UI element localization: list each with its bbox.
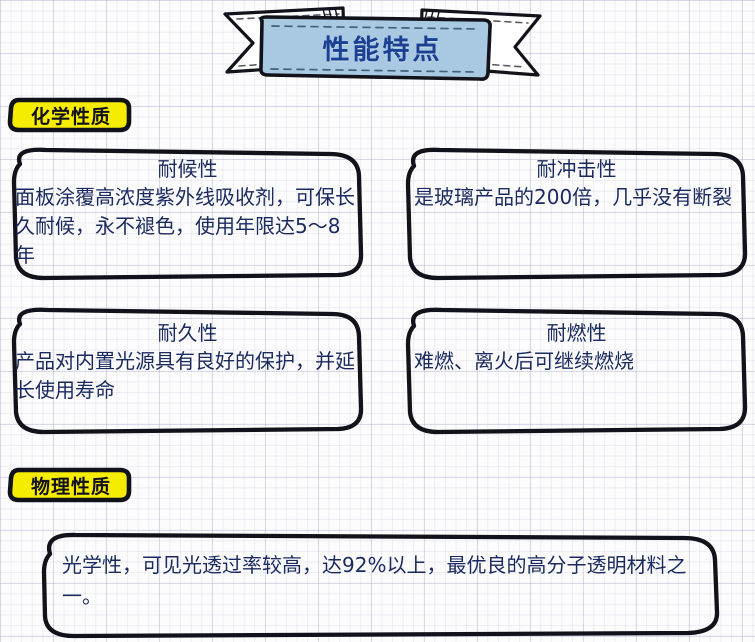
title-banner: 性能特点 xyxy=(215,2,550,86)
card-impact-resistance: 耐冲击性 是玻璃产品的200倍，几乎没有断裂 xyxy=(398,142,755,282)
card-optical-property: 光学性，可见光透过率较高，达92%以上，最优良的高分子透明材料之一。 xyxy=(36,528,726,640)
page-background: 性能特点 化学性质 耐候性 面板涂覆高浓度紫外线吸收剂，可保长久耐候，永不褪色，… xyxy=(0,0,755,642)
card-weather-resistance: 耐候性 面板涂覆高浓度紫外线吸收剂，可保长久耐候，永不褪色，使用年限达5～8年 xyxy=(2,142,374,282)
card-durability: 耐久性 产品对内置光源具有良好的保护，并延长使用寿命 xyxy=(2,302,374,436)
card-flame-resistance: 耐燃性 难燃、离火后可继续燃烧 xyxy=(398,302,755,436)
banner-center-panel xyxy=(261,17,490,79)
section-label-chemical: 化学性质 xyxy=(6,96,134,134)
section-label-physical: 物理性质 xyxy=(6,466,134,504)
